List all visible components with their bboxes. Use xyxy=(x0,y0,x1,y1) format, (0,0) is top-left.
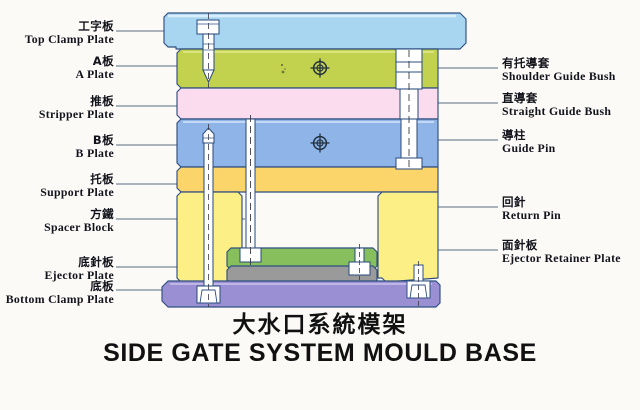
label-en: Stripper Plate xyxy=(0,108,114,120)
label-en: Support Plate xyxy=(0,186,114,198)
label-a-plate: A板 A Plate xyxy=(0,56,114,80)
label-stripper-plate: 推板 Stripper Plate xyxy=(0,96,114,120)
label-top-clamp-plate: 工字板 Top Clamp Plate xyxy=(0,21,114,45)
label-cn: 工字板 xyxy=(0,21,114,33)
label-cn: 導柱 xyxy=(502,130,640,142)
diagram-canvas: 工字板 Top Clamp Plate A板 A Plate 推板 Stripp… xyxy=(0,0,640,410)
label-en: Bottom Clamp Plate xyxy=(0,293,114,305)
label-cn: 回針 xyxy=(502,197,640,209)
label-en: Guide Pin xyxy=(502,142,640,154)
label-cn: 方鐵 xyxy=(0,209,114,221)
label-cn: 有托導套 xyxy=(502,58,640,70)
title-block: 大水口系統模架 SIDE GATE SYSTEM MOULD BASE xyxy=(0,312,640,368)
label-support-plate: 托板 Support Plate xyxy=(0,174,114,198)
label-cn: B板 xyxy=(0,135,114,147)
label-shoulder-guide-bush: 有托導套 Shoulder Guide Bush xyxy=(502,58,640,82)
label-bottom-clamp-plate: 底板 Bottom Clamp Plate xyxy=(0,281,114,305)
label-cn: 面針板 xyxy=(502,240,640,252)
label-return-pin: 回針 Return Pin xyxy=(502,197,640,221)
label-cn: 推板 xyxy=(0,96,114,108)
label-en: B Plate xyxy=(0,147,114,159)
page-title-en: SIDE GATE SYSTEM MOULD BASE xyxy=(0,339,640,368)
label-en: Ejector Retainer Plate xyxy=(502,252,640,264)
label-cn: A板 xyxy=(0,56,114,68)
straight-guide-bush xyxy=(400,89,418,119)
spacer-block-right xyxy=(378,192,438,282)
label-cn: 直導套 xyxy=(502,93,640,105)
label-b-plate: B板 B Plate xyxy=(0,135,114,159)
plate-support xyxy=(177,167,438,192)
label-guide-pin: 導柱 Guide Pin xyxy=(502,130,640,154)
label-ejector-plate: 底針板 Ejector Plate xyxy=(0,257,114,281)
label-straight-guide-bush: 直導套 Straight Guide Bush xyxy=(502,93,640,117)
label-spacer-block: 方鐵 Spacer Block xyxy=(0,209,114,233)
label-en: Spacer Block xyxy=(0,221,114,233)
page-title-cn: 大水口系統模架 xyxy=(0,312,640,338)
label-cn: 底板 xyxy=(0,281,114,293)
plate-stripper xyxy=(177,88,438,119)
label-en: Top Clamp Plate xyxy=(0,33,114,45)
label-cn: 底針板 xyxy=(0,257,114,269)
label-en: Return Pin xyxy=(502,209,640,221)
label-en: Straight Guide Bush xyxy=(502,105,640,117)
label-en: A Plate xyxy=(0,68,114,80)
label-en: Shoulder Guide Bush xyxy=(502,70,640,82)
label-ejector-retainer-plate: 面針板 Ejector Retainer Plate xyxy=(502,240,640,264)
label-cn: 托板 xyxy=(0,174,114,186)
